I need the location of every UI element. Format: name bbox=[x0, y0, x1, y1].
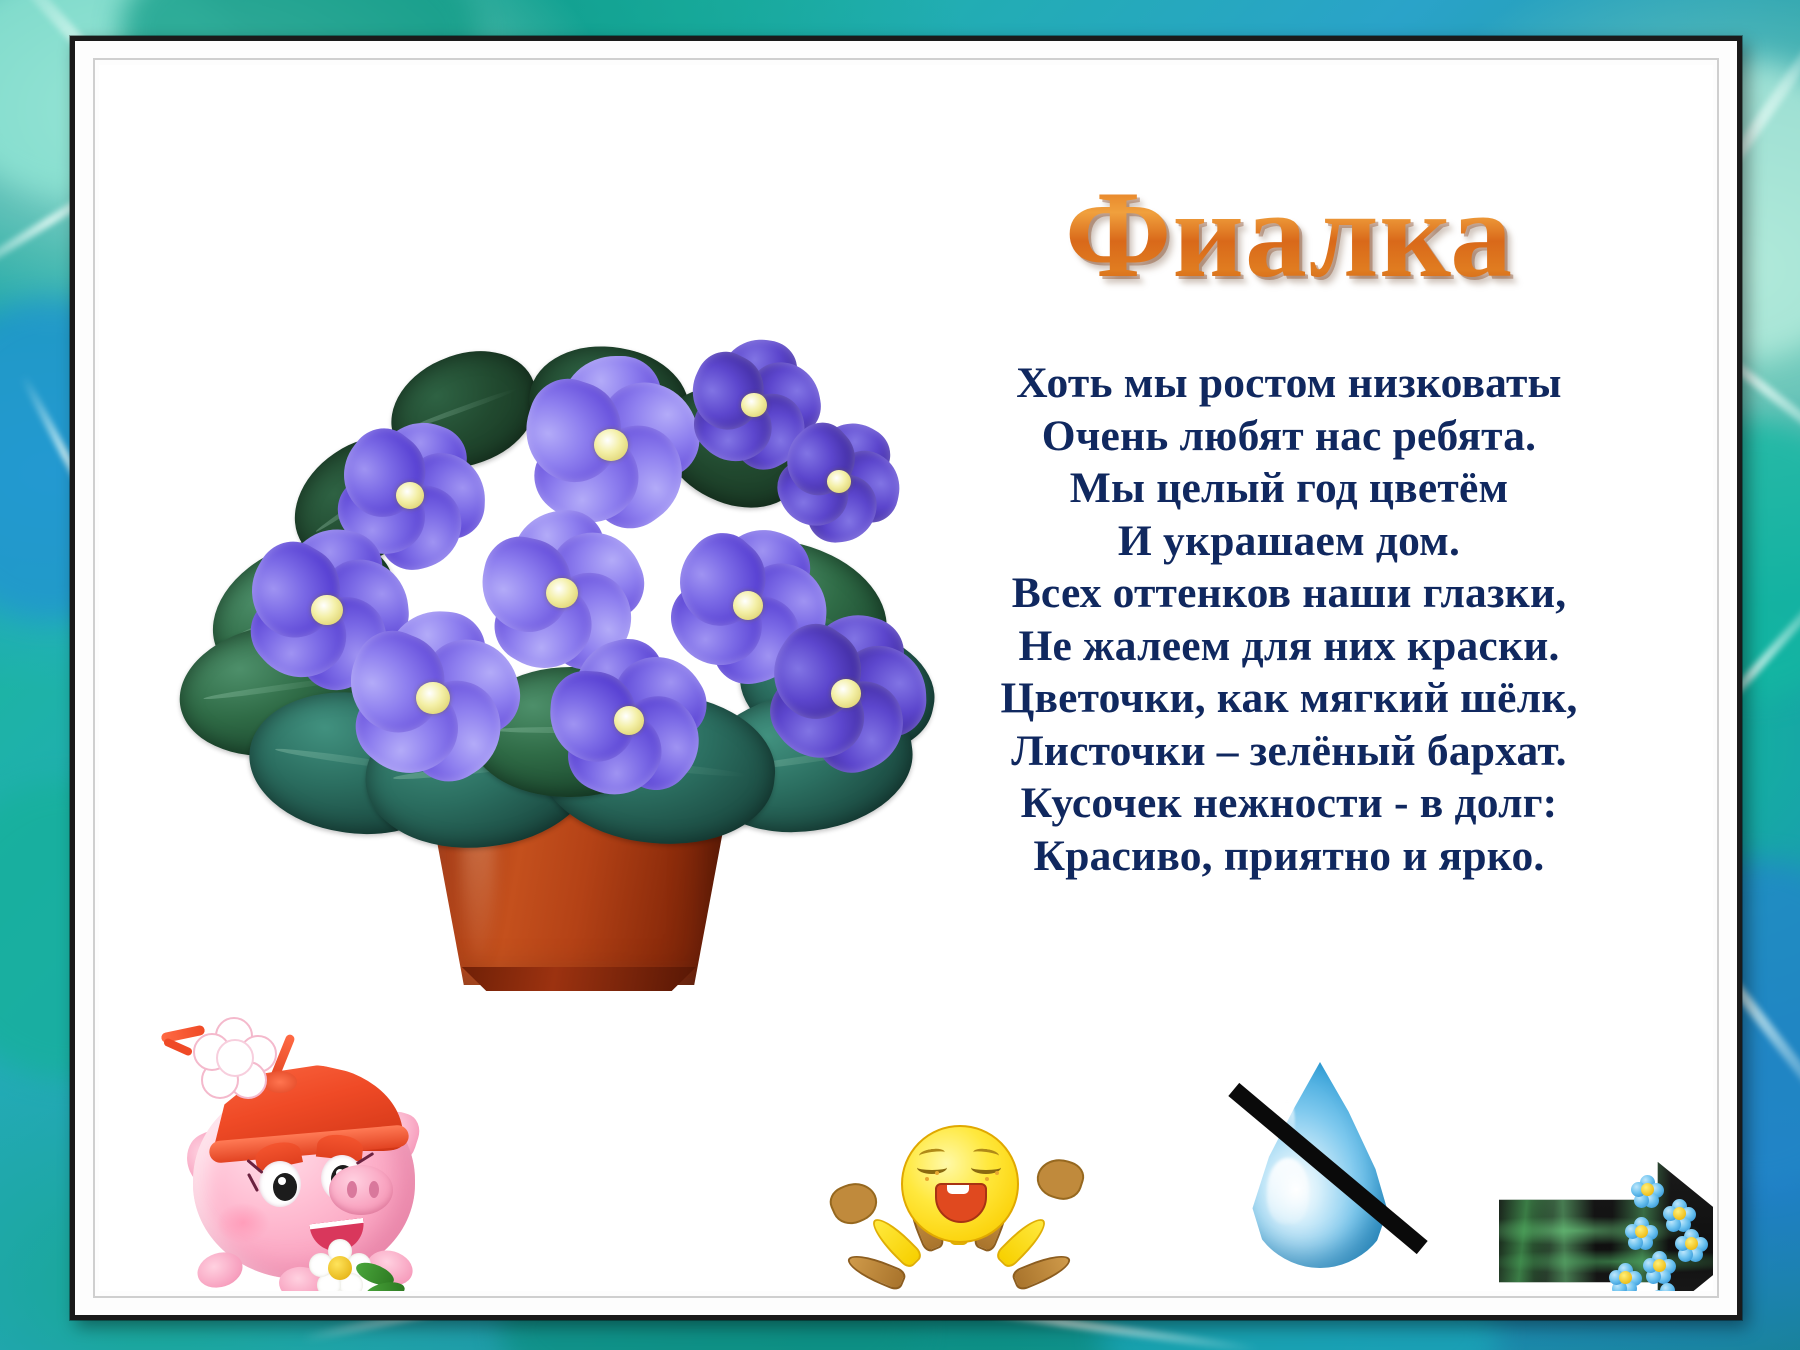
sun-freckle bbox=[925, 1177, 929, 1181]
violet-blossom bbox=[755, 607, 937, 781]
poem-line: Цветочки, как мягкий шёлк, bbox=[911, 672, 1667, 725]
forget-me-not-icon bbox=[1633, 1175, 1663, 1205]
pig-cheek bbox=[217, 1203, 269, 1243]
flower-center bbox=[216, 1039, 254, 1077]
sun-freckle bbox=[995, 1171, 999, 1175]
flower-center bbox=[1635, 1225, 1648, 1238]
violet-flower-center bbox=[827, 470, 851, 493]
pig-nostril bbox=[369, 1181, 379, 1198]
poem-line: Хоть мы ростом низковаты bbox=[911, 357, 1667, 410]
violet-flower-center bbox=[416, 682, 449, 714]
poem-line: Кусочек нежности - в долг: bbox=[911, 777, 1667, 830]
sun-hand bbox=[1032, 1153, 1088, 1205]
violet-flower-center bbox=[594, 429, 628, 461]
no-water-icon bbox=[1209, 1040, 1439, 1291]
forget-me-not-icon bbox=[1627, 1217, 1657, 1247]
flower-center bbox=[1673, 1207, 1686, 1220]
forget-me-not-icon bbox=[1653, 1283, 1683, 1291]
daisy-center bbox=[328, 1256, 352, 1280]
violet-flower-center bbox=[614, 706, 645, 735]
page-title: Фиалка bbox=[919, 173, 1659, 297]
sun-freckle bbox=[985, 1177, 989, 1181]
pig-eye bbox=[259, 1161, 301, 1207]
african-violet-photo bbox=[139, 295, 929, 995]
flower-center bbox=[1619, 1271, 1632, 1284]
violet-blossom bbox=[539, 635, 719, 807]
flower-center bbox=[1653, 1259, 1666, 1272]
bonnet-flower-icon bbox=[193, 1017, 277, 1095]
sun-eye bbox=[917, 1161, 947, 1174]
flower-arrow-icon bbox=[1499, 1155, 1713, 1291]
forget-me-not-icon bbox=[1665, 1199, 1695, 1229]
sun-freckle bbox=[935, 1171, 939, 1175]
flower-center bbox=[1641, 1183, 1654, 1196]
forget-me-not-icon bbox=[1645, 1251, 1675, 1281]
pig-pupil bbox=[273, 1173, 297, 1201]
violet-blossom bbox=[335, 605, 531, 793]
flower-pot-base bbox=[457, 967, 701, 991]
pig-snout bbox=[329, 1165, 393, 1215]
flower-petal bbox=[1660, 1283, 1675, 1291]
poster-card: Фиалка Хоть мы ростом низковаты Очень лю… bbox=[70, 36, 1742, 1320]
pig-mascot-icon bbox=[159, 1015, 459, 1291]
poster-content: Фиалка Хоть мы ростом низковаты Очень лю… bbox=[99, 65, 1713, 1291]
pig-nostril bbox=[347, 1181, 357, 1198]
poem-line: И украшаем дом. bbox=[911, 515, 1667, 568]
poem-line: Листочки – зелёный бархат. bbox=[911, 725, 1667, 778]
poem-text: Хоть мы ростом низковаты Очень любят нас… bbox=[911, 357, 1667, 882]
poem-line: Красиво, приятно и ярко. bbox=[911, 830, 1667, 883]
flower-center bbox=[1685, 1237, 1698, 1250]
forget-me-not-icon bbox=[1677, 1229, 1707, 1259]
poem-line: Очень любят нас ребята. bbox=[911, 410, 1667, 463]
violet-flower-center bbox=[741, 393, 767, 417]
poem-line: Мы целый год цветём bbox=[911, 462, 1667, 515]
poem-line: Не жалеем для них краски. bbox=[911, 620, 1667, 673]
poem-line: Всех оттенков наши глазки, bbox=[911, 567, 1667, 620]
forget-me-not-icon bbox=[1611, 1263, 1641, 1291]
sun-icon bbox=[839, 1065, 1079, 1291]
water-drop-highlight bbox=[1267, 1158, 1309, 1224]
violet-flower-center bbox=[546, 578, 578, 608]
